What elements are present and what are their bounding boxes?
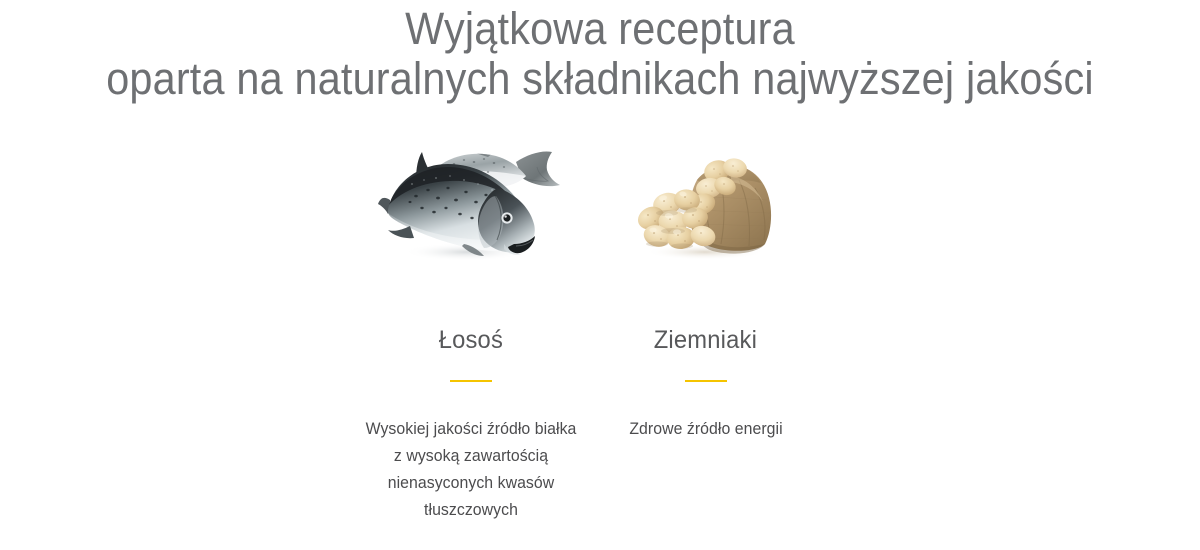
salmon-icon bbox=[376, 140, 566, 270]
ingredient-description: Wysokiej jakości źródło białka z wysoką … bbox=[365, 416, 576, 524]
ingredient-title: Ziemniaki bbox=[654, 326, 757, 354]
title-divider bbox=[450, 380, 492, 382]
page-title-line-2: oparta na naturalnych składnikach najwyż… bbox=[48, 54, 1152, 104]
potatoes-photo bbox=[606, 140, 806, 270]
title-divider bbox=[685, 380, 727, 382]
potato-sack-icon bbox=[621, 140, 791, 270]
ingredient-description: Zdrowe źródło energii bbox=[600, 416, 811, 443]
ingredient-card-salmon: Łosoś Wysokiej jakości źródło białka z w… bbox=[353, 140, 588, 524]
page-title-line-1: Wyjątkowa receptura bbox=[48, 4, 1152, 54]
ingredient-title: Łosoś bbox=[438, 326, 502, 354]
ingredients-section: Wyjątkowa receptura oparta na naturalnyc… bbox=[0, 0, 1200, 550]
salmon-photo bbox=[371, 140, 571, 270]
ingredient-card-list: Łosoś Wysokiej jakości źródło białka z w… bbox=[353, 140, 823, 550]
salmon-eye bbox=[501, 212, 512, 223]
page-title: Wyjątkowa receptura oparta na naturalnyc… bbox=[48, 4, 1152, 104]
ingredient-card-potatoes: Ziemniaki Zdrowe źródło energii bbox=[588, 140, 823, 443]
